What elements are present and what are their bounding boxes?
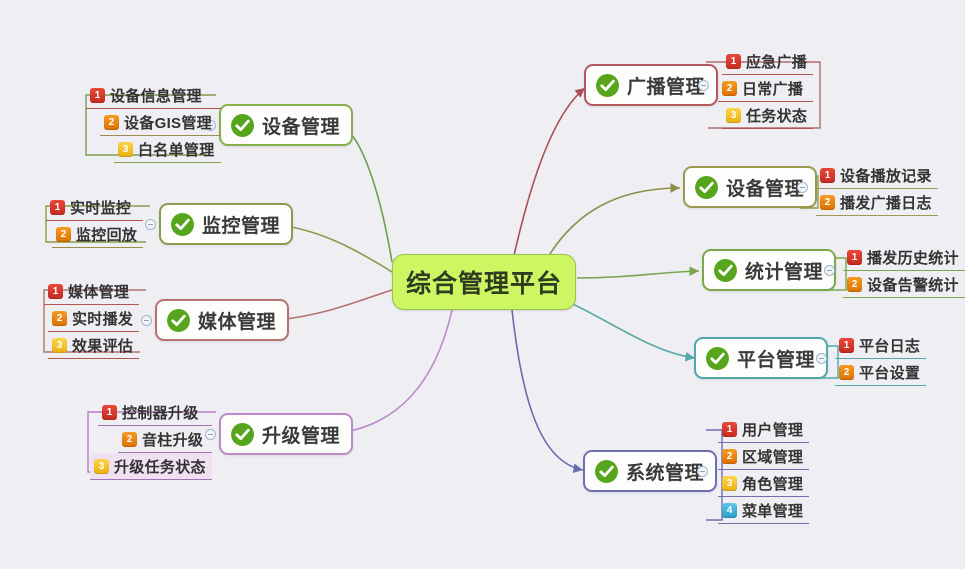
leaf-label: 设备告警统计 [867,274,959,295]
leaf-item[interactable]: 1 实时监控 [46,194,143,221]
badge-number: 1 [90,88,105,103]
branch-node-tongji-guanli[interactable]: 统计管理 [702,249,836,291]
branch-node-shengji-guanli[interactable]: 升级管理 [219,413,353,455]
leaf-item[interactable]: 2 音柱升级 [118,426,212,453]
leaf-label: 播发广播日志 [840,192,932,213]
leaf-item[interactable]: 3 任务状态 [722,102,813,129]
leaf-label: 菜单管理 [742,500,803,521]
green-check-circle-icon [705,346,730,371]
leaf-item[interactable]: 2 设备告警统计 [843,271,965,298]
green-check-circle-icon [594,459,619,484]
collapse-toggle-icon[interactable] [698,80,709,91]
leaf-label: 设备信息管理 [110,85,202,106]
leaf-label: 实时播发 [72,308,133,329]
green-check-circle-icon [230,113,255,138]
leaf-label: 区域管理 [742,446,803,467]
leaf-item[interactable]: 1 控制器升级 [98,399,212,426]
badge-number: 1 [726,54,741,69]
badge-number: 3 [726,108,741,123]
central-node[interactable]: 综合管理平台 [392,254,576,310]
collapse-toggle-icon[interactable] [824,265,835,276]
badge-number: 2 [122,432,137,447]
leaf-group-shengji-guanli: 1 控制器升级 2 音柱升级 3 升级任务状态 [90,399,212,480]
badge-number: 1 [722,422,737,437]
badge-number: 1 [820,168,835,183]
badge-number: 2 [722,81,737,96]
collapse-toggle-icon[interactable] [141,315,152,326]
leaf-item[interactable]: 4 菜单管理 [718,497,809,524]
leaf-group-shebei-guanli-left: 1 设备信息管理 2 设备GIS管理 3 白名单管理 [86,82,221,163]
leaf-label: 实时监控 [70,197,131,218]
leaf-group-tongji-guanli: 1 播发历史统计 2 设备告警统计 [843,244,965,298]
leaf-group-meiti-guanli: 1 媒体管理 2 实时播发 3 效果评估 [44,278,139,359]
badge-number: 3 [722,476,737,491]
leaf-group-xitong-guanli: 1 用户管理 2 区域管理 3 角色管理 4 菜单管理 [718,416,809,524]
leaf-item[interactable]: 3 升级任务状态 [90,453,212,480]
central-node-label: 综合管理平台 [406,264,562,300]
leaf-item[interactable]: 1 用户管理 [718,416,809,443]
branch-label: 系统管理 [626,458,704,485]
leaf-item[interactable]: 2 日常广播 [718,75,813,102]
leaf-label: 升级任务状态 [114,456,206,477]
leaf-item[interactable]: 1 设备播放记录 [816,162,938,189]
green-check-circle-icon [166,308,191,333]
leaf-item[interactable]: 1 播发历史统计 [843,244,965,271]
branch-label: 升级管理 [262,421,340,448]
leaf-group-pingtai-guanli: 1 平台日志 2 平台设置 [835,332,926,386]
badge-number: 2 [847,277,862,292]
leaf-label: 监控回放 [76,224,137,245]
leaf-item[interactable]: 2 监控回放 [52,221,143,248]
leaf-item[interactable]: 1 平台日志 [835,332,926,359]
leaf-label: 播发历史统计 [867,247,959,268]
branch-node-shebei-guanli-left[interactable]: 设备管理 [219,104,353,146]
badge-number: 4 [722,503,737,518]
leaf-label: 应急广播 [746,51,807,72]
collapse-toggle-icon[interactable] [797,182,808,193]
leaf-item[interactable]: 2 设备GIS管理 [100,109,221,136]
leaf-item[interactable]: 3 角色管理 [718,470,809,497]
green-check-circle-icon [230,422,255,447]
leaf-label: 用户管理 [742,419,803,440]
badge-number: 3 [118,142,133,157]
branch-label: 平台管理 [737,345,815,372]
leaf-item[interactable]: 1 设备信息管理 [86,82,221,109]
branch-label: 监控管理 [202,211,280,238]
leaf-label: 平台设置 [859,362,920,383]
leaf-label: 日常广播 [742,78,803,99]
branch-label: 广播管理 [627,72,705,99]
leaf-item[interactable]: 1 应急广播 [722,48,813,75]
branch-label: 媒体管理 [198,307,276,334]
branch-node-meiti-guanli[interactable]: 媒体管理 [155,299,289,341]
collapse-toggle-icon[interactable] [145,219,156,230]
mindmap-canvas: 综合管理平台 设备管理 1 设备信息管理 2 设备GIS管理 3 白名单管理 [0,0,965,569]
branch-label: 设备管理 [262,112,340,139]
green-check-circle-icon [713,258,738,283]
leaf-group-jiankong-guanli: 1 实时监控 2 监控回放 [46,194,143,248]
green-check-circle-icon [595,73,620,98]
leaf-label: 音柱升级 [142,429,203,450]
leaf-label: 任务状态 [746,105,807,126]
badge-number: 1 [847,250,862,265]
collapse-toggle-icon[interactable] [816,353,827,364]
badge-number: 1 [48,284,63,299]
badge-number: 1 [50,200,65,215]
leaf-item[interactable]: 1 媒体管理 [44,278,139,305]
green-check-circle-icon [694,175,719,200]
leaf-item[interactable]: 3 效果评估 [48,332,139,359]
leaf-label: 白名单管理 [138,139,215,160]
leaf-item[interactable]: 3 白名单管理 [114,136,221,163]
leaf-item[interactable]: 2 区域管理 [718,443,809,470]
badge-number: 2 [820,195,835,210]
leaf-label: 控制器升级 [122,402,199,423]
badge-number: 1 [839,338,854,353]
badge-number: 1 [102,405,117,420]
leaf-label: 角色管理 [742,473,803,494]
badge-number: 2 [104,115,119,130]
badge-number: 2 [52,311,67,326]
badge-number: 3 [94,459,109,474]
branch-node-jiankong-guanli[interactable]: 监控管理 [159,203,293,245]
leaf-label: 平台日志 [859,335,920,356]
leaf-item[interactable]: 2 播发广播日志 [816,189,938,216]
badge-number: 3 [52,338,67,353]
leaf-label: 设备播放记录 [840,165,932,186]
leaf-item[interactable]: 2 平台设置 [835,359,926,386]
branch-label: 统计管理 [745,257,823,284]
leaf-label: 效果评估 [72,335,133,356]
leaf-group-shebei-guanli-right: 1 设备播放记录 2 播发广播日志 [816,162,938,216]
badge-number: 2 [56,227,71,242]
branch-node-pingtai-guanli[interactable]: 平台管理 [694,337,828,379]
branch-label: 设备管理 [726,174,804,201]
green-check-circle-icon [170,212,195,237]
badge-number: 2 [722,449,737,464]
collapse-toggle-icon[interactable] [697,466,708,477]
leaf-label: 媒体管理 [68,281,129,302]
leaf-group-guangbo-guanli: 1 应急广播 2 日常广播 3 任务状态 [718,48,813,129]
leaf-label: 设备GIS管理 [124,112,212,133]
leaf-item[interactable]: 2 实时播发 [48,305,139,332]
badge-number: 2 [839,365,854,380]
